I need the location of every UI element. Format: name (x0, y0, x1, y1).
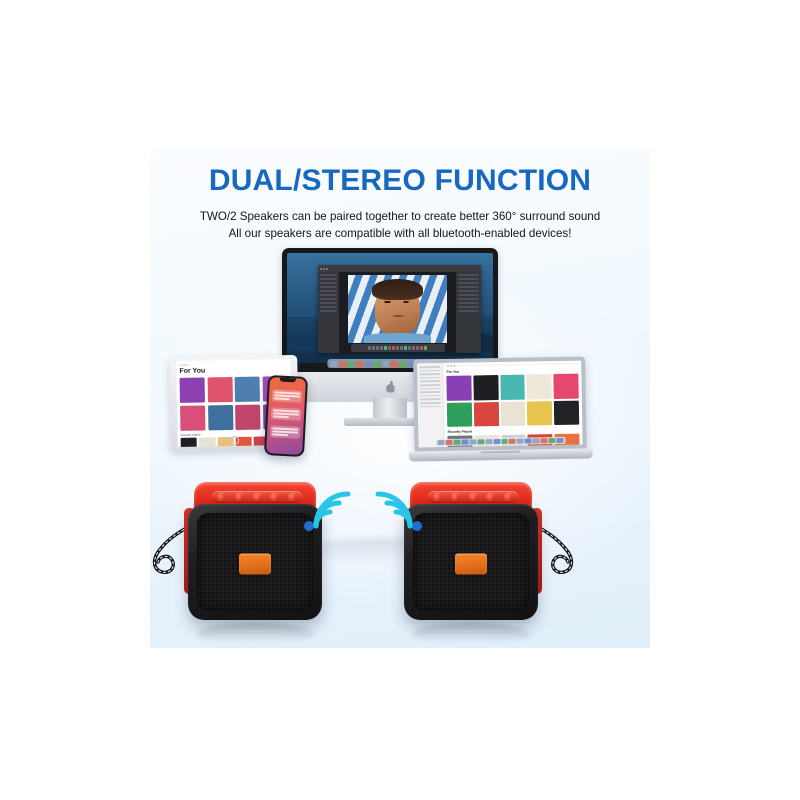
laptop-sidebar (417, 363, 445, 447)
desktop-screen (287, 253, 493, 363)
album-tile (180, 378, 206, 404)
album-tile (527, 374, 552, 399)
speaker-reflection (412, 622, 530, 644)
album-tile (474, 402, 499, 427)
bluetooth-waves-icon (300, 486, 360, 532)
power-button[interactable] (433, 493, 442, 502)
next-button[interactable] (486, 493, 495, 502)
album-tile (447, 402, 472, 427)
subtitle-line-1: TWO/2 Speakers can be paired together to… (150, 210, 650, 223)
album-tile (473, 375, 498, 400)
laptop-album-grid (447, 373, 580, 427)
editor-body (318, 272, 481, 353)
editor-canvas (339, 272, 456, 353)
laptop-base (409, 448, 593, 461)
smartphone-device (264, 375, 308, 457)
subtitle-line-2: All our speakers are compatible with all… (150, 227, 650, 240)
editor-titlebar (318, 265, 481, 272)
play-pause-button[interactable] (252, 493, 261, 502)
bluetooth-speaker-left (180, 478, 330, 628)
bluetooth-speaker-right (396, 478, 546, 628)
album-tile (554, 400, 579, 425)
tablet-title: For You (179, 366, 287, 375)
speaker-button-row (212, 491, 302, 503)
power-button[interactable] (217, 493, 226, 502)
photo-editor-window (318, 265, 481, 353)
album-tile (447, 375, 472, 400)
desktop-bezel (282, 248, 498, 372)
editor-toolbar (351, 344, 445, 351)
phone-notch (280, 378, 296, 383)
photo-eye (384, 301, 391, 303)
album-tile (554, 373, 579, 398)
mode-button[interactable] (504, 493, 513, 502)
album-tile (180, 405, 206, 431)
album-tile (527, 401, 552, 426)
speaker-reflection (196, 622, 314, 644)
laptop-toolbar (445, 363, 579, 367)
device-cluster: MUSIC For You Recently Played (150, 248, 650, 488)
brand-badge (455, 554, 487, 575)
speaker-button-row (428, 491, 518, 503)
brand-logo-icon (386, 382, 395, 393)
laptop-lid: For You (413, 357, 587, 452)
photo-eye (403, 301, 410, 303)
phone-screen (266, 377, 306, 455)
portrait-photo (348, 275, 446, 343)
window-dot-icon (323, 268, 325, 270)
album-tile (208, 405, 234, 431)
content-panel: DUAL/STEREO FUNCTION TWO/2 Speakers can … (150, 148, 650, 648)
photo-mouth (393, 315, 404, 317)
notification-card (272, 389, 303, 402)
album-tile (235, 377, 261, 403)
laptop-device: For You (407, 356, 593, 467)
notification-card (270, 425, 301, 438)
editor-left-panel (318, 272, 339, 353)
window-dot-icon (320, 268, 322, 270)
previous-button[interactable] (235, 493, 244, 502)
recent-tile (181, 438, 198, 447)
product-marketing-image: DUAL/STEREO FUNCTION TWO/2 Speakers can … (0, 0, 800, 800)
desktop-stand-neck (373, 398, 407, 420)
play-pause-button[interactable] (468, 493, 477, 502)
laptop-main-area: For You (443, 361, 582, 447)
album-tile (501, 401, 526, 426)
photo-shirt (364, 333, 431, 344)
photo-hair (372, 279, 423, 299)
page-title: DUAL/STEREO FUNCTION (150, 164, 650, 198)
next-button[interactable] (270, 493, 279, 502)
recent-tile (199, 438, 216, 447)
brand-badge (239, 554, 271, 575)
album-tile (235, 404, 261, 430)
laptop-screen: For You (417, 361, 582, 448)
album-tile (500, 374, 525, 399)
album-tile (207, 377, 233, 403)
editor-right-panel (456, 272, 480, 353)
bluetooth-waves-icon (366, 486, 426, 532)
window-dot-icon (326, 268, 328, 270)
mode-button[interactable] (288, 493, 297, 502)
notification-card (271, 407, 302, 420)
previous-button[interactable] (451, 493, 460, 502)
tablet-home-button[interactable] (230, 436, 239, 445)
